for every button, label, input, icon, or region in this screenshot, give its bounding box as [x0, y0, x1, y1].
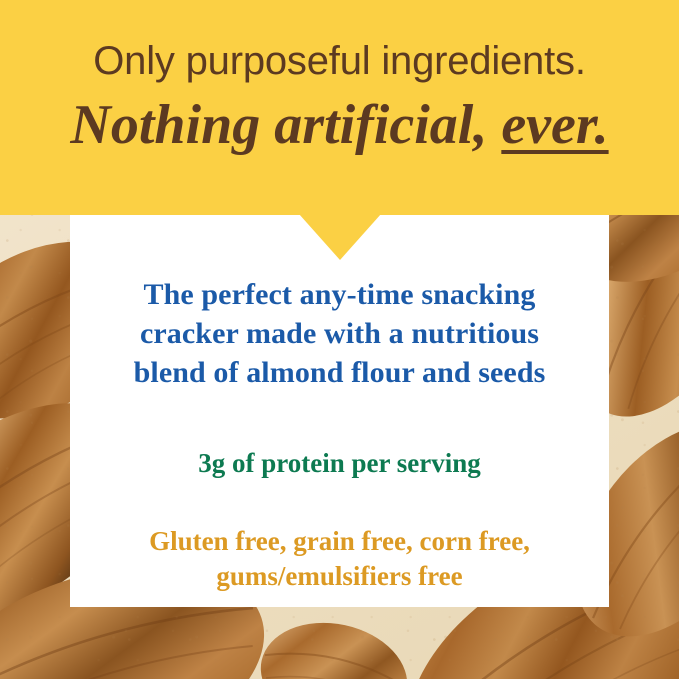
headline-secondary-plain: Nothing artificial, — [70, 94, 501, 156]
headline-secondary: Nothing artificial, ever. — [0, 92, 679, 158]
product-callout-image: Only purposeful ingredients. Nothing art… — [0, 0, 679, 679]
headline-secondary-underlined: ever. — [501, 94, 608, 156]
headline-banner-text: Only purposeful ingredients. Nothing art… — [0, 36, 679, 158]
headline-primary: Only purposeful ingredients. — [0, 36, 679, 86]
product-description: The perfect any-time snacking cracker ma… — [102, 275, 577, 392]
free-from-claim: Gluten free, grain free, corn free, gums… — [102, 524, 577, 594]
headline-banner: Only purposeful ingredients. Nothing art… — [0, 0, 679, 215]
claims-card: The perfect any-time snacking cracker ma… — [70, 215, 609, 607]
speech-bubble-notch — [299, 214, 381, 260]
protein-claim: 3g of protein per serving — [102, 446, 577, 480]
